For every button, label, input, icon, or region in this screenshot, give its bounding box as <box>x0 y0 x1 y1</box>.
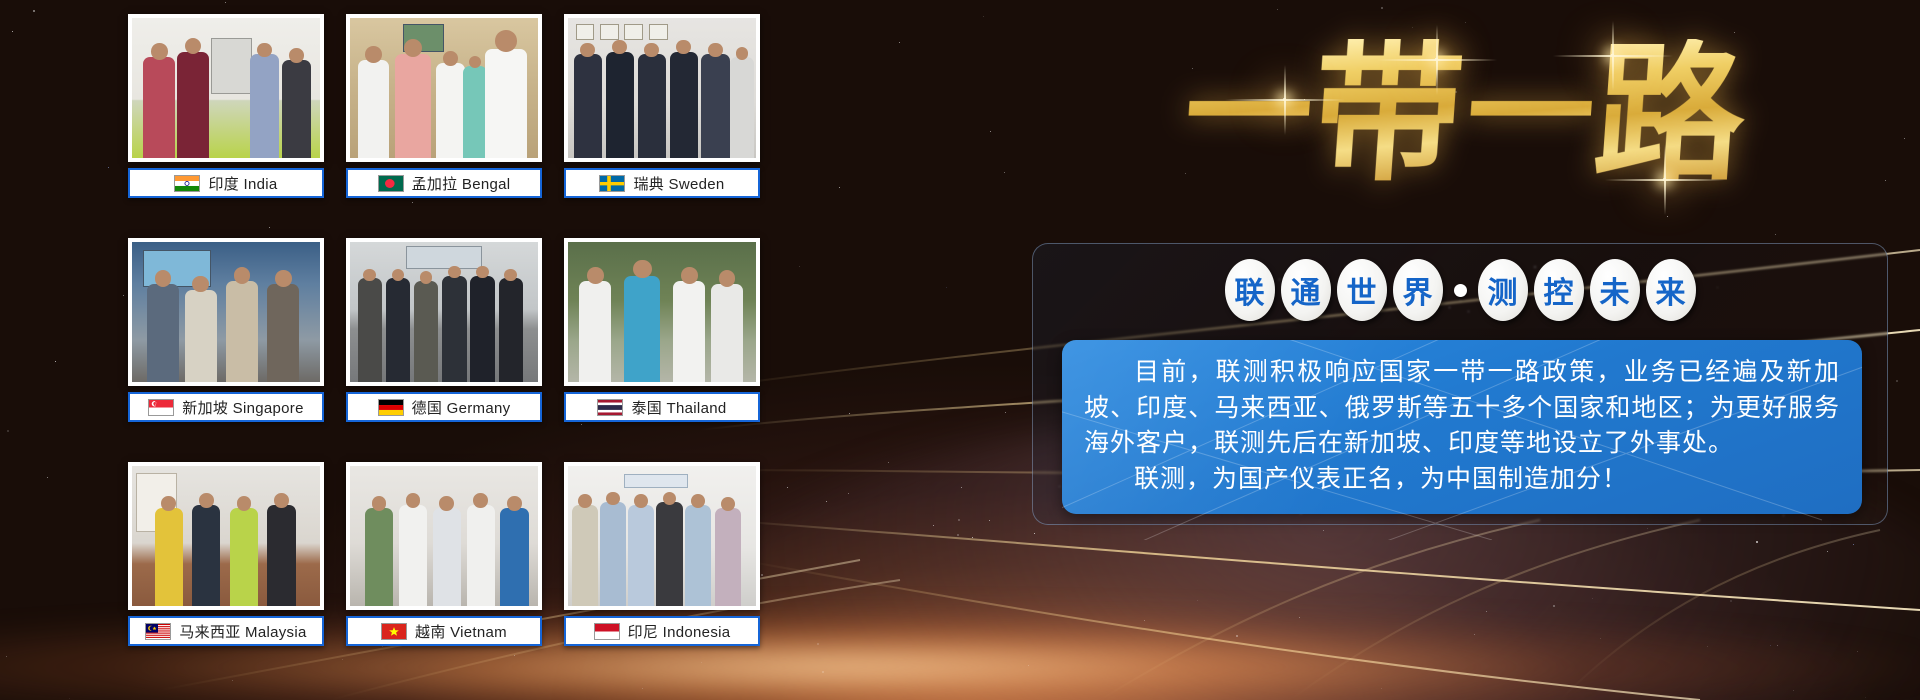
photo-person <box>267 284 299 382</box>
star-dot <box>642 688 643 689</box>
photo-person <box>701 54 729 158</box>
star-dot <box>1323 530 1324 531</box>
photo-person <box>358 278 382 382</box>
star-dot <box>108 167 109 168</box>
slogan-row: 联通世界测控未来 <box>1032 253 1888 327</box>
photo-person-head <box>439 496 454 511</box>
photo-person <box>358 60 390 158</box>
star-dot <box>1770 645 1771 646</box>
photo-person <box>600 502 626 606</box>
sparkle-icon <box>1283 98 1286 101</box>
photo-person <box>685 505 711 606</box>
photo-person <box>470 276 494 382</box>
star-dot <box>839 187 840 188</box>
star-dot <box>972 537 973 538</box>
star-dot <box>899 42 900 43</box>
photo-person-head <box>587 267 604 284</box>
country-label-text: 印尼 Indonesia <box>628 621 731 642</box>
photo-image <box>132 242 320 382</box>
photo-person <box>365 508 393 606</box>
photo-person-head <box>504 269 517 282</box>
country-label-text: 孟加拉 Bengal <box>412 173 511 194</box>
description-box: 目前，联测积极响应国家一带一路政策，业务已经遍及新加坡、印度、马来西亚、俄罗斯等… <box>1062 340 1862 514</box>
headline-char-3: 一 <box>1462 49 1595 179</box>
sparkle-icon <box>1611 54 1614 57</box>
country-label[interactable]: 泰国 Thailand <box>564 392 760 422</box>
photo-person <box>574 54 602 158</box>
star-dot <box>787 487 788 488</box>
photo-person-head <box>161 496 176 511</box>
country-label[interactable]: 德国 Germany <box>346 392 542 422</box>
photo-prop <box>649 24 668 41</box>
star-dot <box>12 31 13 32</box>
photo-person-head <box>495 30 517 52</box>
photo-image <box>568 18 756 158</box>
country-photo[interactable] <box>564 238 760 386</box>
country-photo[interactable] <box>564 14 760 162</box>
flag-singapore-icon <box>148 399 174 416</box>
slogan-char-bubble: 界 <box>1393 259 1443 321</box>
description-paragraph-2: 联测，为国产仪表正名，为中国制造加分！ <box>1084 461 1840 497</box>
flag-bangladesh-icon <box>378 175 404 192</box>
photo-prop <box>624 474 688 488</box>
star-dot <box>1553 605 1555 607</box>
photo-person-head <box>606 492 620 506</box>
photo-person-head <box>151 43 168 60</box>
gallery-cell[interactable]: 马来西亚 Malaysia <box>128 462 324 646</box>
photo-person-head <box>681 267 698 284</box>
country-gallery-grid: 印度 India孟加拉 Bengal瑞典 Sweden新加坡 Singapore… <box>128 14 760 686</box>
photo-person-head <box>365 46 382 63</box>
star-dot <box>958 519 960 521</box>
slogan-separator-dot <box>1454 284 1467 297</box>
star-dot <box>1381 688 1382 689</box>
photo-person-head <box>372 496 387 511</box>
photo-person <box>192 505 220 606</box>
photo-person <box>500 508 528 606</box>
photo-person <box>177 52 209 158</box>
country-label-text: 新加坡 Singapore <box>182 397 303 418</box>
photo-image <box>132 466 320 606</box>
star-dot <box>1600 638 1601 639</box>
country-photo[interactable] <box>346 238 542 386</box>
photo-person-head <box>473 493 488 508</box>
photo-person <box>250 54 278 158</box>
star-dot <box>888 462 889 463</box>
slogan-char-bubble: 控 <box>1534 259 1584 321</box>
star-dot <box>946 287 947 288</box>
photo-person <box>730 57 754 158</box>
star-dot <box>990 131 991 132</box>
country-label[interactable]: 越南 Vietnam <box>346 616 542 646</box>
gallery-cell[interactable]: 孟加拉 Bengal <box>346 14 542 198</box>
country-photo[interactable] <box>128 14 324 162</box>
photo-person <box>185 290 217 382</box>
photo-person <box>143 57 175 158</box>
gallery-cell[interactable]: 德国 Germany <box>346 238 542 422</box>
slogan-char-bubble: 通 <box>1281 259 1331 321</box>
photo-prop <box>624 24 643 41</box>
country-label-text: 印度 India <box>208 173 277 194</box>
star-dot <box>1775 234 1776 235</box>
photo-person <box>670 52 698 158</box>
photo-image <box>350 466 538 606</box>
photo-prop <box>600 24 619 41</box>
photo-person-head <box>237 496 252 511</box>
star-dot <box>799 266 800 267</box>
photo-person-head <box>234 267 251 284</box>
star-dot <box>1474 634 1475 635</box>
star-dot <box>1486 611 1487 612</box>
star-dot <box>933 525 934 526</box>
photo-person <box>436 63 464 158</box>
photo-person-head <box>633 260 652 279</box>
star-dot <box>989 520 990 521</box>
star-dot <box>1647 528 1648 529</box>
photo-person-head <box>721 497 735 511</box>
photo-person <box>267 505 295 606</box>
country-photo[interactable] <box>128 462 324 610</box>
flag-malaysia-icon <box>145 623 171 640</box>
star-dot <box>826 501 827 502</box>
star-dot <box>1004 172 1005 173</box>
photo-person <box>711 284 743 382</box>
country-label-text: 德国 Germany <box>412 397 511 418</box>
flag-germany-icon <box>378 399 404 416</box>
star-dot <box>1005 412 1006 413</box>
star-dot <box>6 656 7 657</box>
star-dot <box>1756 541 1758 543</box>
star-dot <box>1857 651 1858 652</box>
country-label-text: 越南 Vietnam <box>415 621 507 642</box>
photo-person-head <box>155 270 172 287</box>
country-label[interactable]: 印尼 Indonesia <box>564 616 760 646</box>
star-dot <box>1197 600 1198 601</box>
gallery-cell[interactable]: 越南 Vietnam <box>346 462 542 646</box>
country-photo[interactable] <box>128 238 324 386</box>
star-dot <box>1236 635 1238 637</box>
photo-person-head <box>578 494 592 508</box>
photo-person <box>579 281 611 382</box>
photo-person-head <box>257 43 272 58</box>
photo-person-head <box>708 43 723 58</box>
flag-indonesia-icon <box>594 623 620 640</box>
star-dot <box>1853 544 1854 545</box>
photo-person <box>673 281 705 382</box>
country-label[interactable]: 新加坡 Singapore <box>128 392 324 422</box>
photo-person <box>147 284 179 382</box>
photo-person <box>606 52 634 158</box>
photo-person-head <box>443 51 458 66</box>
photo-person <box>638 54 666 158</box>
country-label-text: 马来西亚 Malaysia <box>179 621 306 642</box>
photo-person <box>656 502 682 606</box>
sparkle-icon <box>1435 58 1438 61</box>
slogan-char-bubble: 未 <box>1590 259 1640 321</box>
headline-char-1: 一 <box>1180 49 1313 179</box>
slogan-char-bubble: 来 <box>1646 259 1696 321</box>
flag-thailand-icon <box>597 399 623 416</box>
star-dot <box>761 574 763 576</box>
gallery-cell[interactable]: 新加坡 Singapore <box>128 238 324 422</box>
country-label-text: 瑞典 Sweden <box>633 173 724 194</box>
star-dot <box>1707 646 1708 647</box>
photo-person <box>395 54 431 158</box>
star-dot <box>1896 380 1898 382</box>
star-dot <box>1034 533 1035 534</box>
country-photo[interactable] <box>564 462 760 610</box>
sparkle-icon <box>1663 178 1666 181</box>
photo-image <box>568 466 756 606</box>
star-dot <box>55 361 56 362</box>
slogan-char-bubble: 测 <box>1478 259 1528 321</box>
star-dot <box>957 534 959 536</box>
gallery-cell[interactable]: 印度 India <box>128 14 324 198</box>
photo-person <box>226 281 258 382</box>
photo-person-head <box>275 270 292 287</box>
photo-person-head <box>363 269 376 282</box>
photo-image <box>568 242 756 382</box>
country-label[interactable]: 瑞典 Sweden <box>564 168 760 198</box>
star-dot <box>961 487 962 488</box>
star-dot <box>1299 617 1300 618</box>
star-dot <box>1592 598 1593 599</box>
star-dot <box>7 430 9 432</box>
photo-person <box>414 281 438 382</box>
star-dot <box>848 493 849 494</box>
country-label[interactable]: 孟加拉 Bengal <box>346 168 542 198</box>
flag-india-icon <box>174 175 200 192</box>
star-dot <box>1865 697 1866 698</box>
star-dot <box>983 16 984 17</box>
star-dot <box>822 671 824 673</box>
photo-person <box>155 508 183 606</box>
photo-prop <box>211 38 252 94</box>
headline-char-2: 带 <box>1308 39 1469 189</box>
country-photo[interactable] <box>346 14 542 162</box>
photo-person-head <box>736 47 749 60</box>
star-dot <box>1793 690 1794 691</box>
slogan-char-bubble: 世 <box>1337 259 1387 321</box>
star-dot <box>1144 620 1145 621</box>
photo-person <box>442 276 466 382</box>
gallery-cell[interactable]: 泰国 Thailand <box>564 238 760 422</box>
star-dot <box>47 477 48 478</box>
photo-person-head <box>507 496 522 511</box>
photo-person <box>463 66 487 158</box>
headline-calligraphy: 一 带 一 路 <box>1015 6 1915 221</box>
photo-image <box>132 18 320 158</box>
gallery-cell[interactable]: 印尼 Indonesia <box>564 462 760 646</box>
photo-person <box>485 49 526 158</box>
slogan-char-bubble: 联 <box>1225 259 1275 321</box>
star-dot <box>1028 665 1029 666</box>
photo-image <box>350 242 538 382</box>
photo-image <box>350 18 538 158</box>
photo-person <box>386 278 410 382</box>
photo-person <box>230 508 258 606</box>
country-photo[interactable] <box>346 462 542 610</box>
photo-person <box>715 508 741 606</box>
photo-person-head <box>289 48 304 63</box>
photo-person-head <box>719 270 736 287</box>
banner-stage: 印度 India孟加拉 Bengal瑞典 Sweden新加坡 Singapore… <box>0 0 1920 700</box>
country-label[interactable]: 印度 India <box>128 168 324 198</box>
photo-person <box>282 60 310 158</box>
star-dot <box>69 698 70 699</box>
photo-person <box>499 278 523 382</box>
star-dot <box>1777 645 1778 646</box>
photo-person-head <box>580 43 595 58</box>
star-dot <box>123 295 124 296</box>
photo-person-head <box>274 493 289 508</box>
photo-person <box>433 508 461 606</box>
star-dot <box>33 10 35 12</box>
star-dot <box>1730 600 1732 602</box>
photo-person-head <box>691 494 705 508</box>
headline-char-4: 路 <box>1590 39 1751 189</box>
star-dot <box>817 643 819 645</box>
description-paragraph-1: 目前，联测积极响应国家一带一路政策，业务已经遍及新加坡、印度、马来西亚、俄罗斯等… <box>1084 354 1840 461</box>
photo-person <box>572 505 598 606</box>
photo-person <box>628 505 654 606</box>
photo-person-head <box>644 43 659 58</box>
gallery-cell[interactable]: 瑞典 Sweden <box>564 14 760 198</box>
photo-person <box>467 505 495 606</box>
flag-vietnam-icon <box>381 623 407 640</box>
country-label[interactable]: 马来西亚 Malaysia <box>128 616 324 646</box>
photo-person-head <box>406 493 421 508</box>
photo-prop <box>576 24 595 41</box>
country-label-text: 泰国 Thailand <box>631 397 726 418</box>
star-dot <box>849 413 850 414</box>
star-dot <box>225 2 226 3</box>
photo-person <box>399 505 427 606</box>
photo-person-head <box>448 266 461 279</box>
photo-person-head <box>199 493 214 508</box>
photo-person <box>624 276 660 382</box>
photo-prop <box>406 246 481 268</box>
flag-sweden-icon <box>599 175 625 192</box>
star-dot <box>1827 551 1828 552</box>
